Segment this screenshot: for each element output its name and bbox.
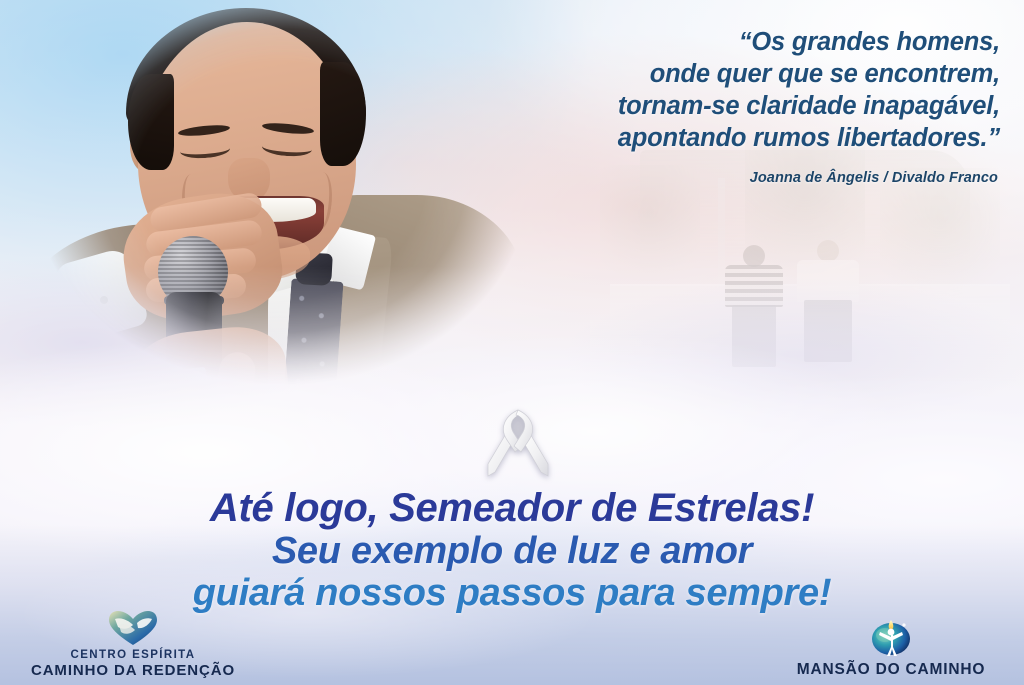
- quote-line-1: “Os grandes homens,: [380, 26, 1000, 58]
- headline-line-3: guiará nossos passos para sempre!: [0, 572, 1024, 614]
- quote-attribution: Joanna de Ângelis / Divaldo Franco: [378, 170, 998, 186]
- logo-ce-line-2: CAMINHO DA REDENÇÃO: [8, 662, 258, 679]
- quote-line-2: onde quer que se encontrem,: [380, 58, 1000, 90]
- headline-line-2: Seu exemplo de luz e amor: [0, 530, 1024, 572]
- logo-mansao-do-caminho: MANSÃO DO CAMINHO: [766, 614, 1016, 679]
- headline-message: Até logo, Semeador de Estrelas! Seu exem…: [0, 486, 1024, 614]
- hair-right-side: [320, 62, 366, 166]
- headline-line-1: Até logo, Semeador de Estrelas!: [0, 486, 1024, 530]
- memorial-poster: “Os grandes homens, onde quer que se enc…: [0, 0, 1024, 685]
- quote-line-3: tornam-se claridade inapagável,: [380, 90, 1000, 122]
- logo-ce-line-1: CENTRO ESPÍRITA: [8, 649, 258, 662]
- cuff-button: [100, 296, 108, 304]
- quote-text: “Os grandes homens, onde quer que se enc…: [380, 26, 1000, 154]
- necktie: [280, 278, 343, 441]
- quote-line-4: apontando rumos libertadores.”: [380, 122, 1000, 154]
- hair-left-side: [128, 74, 174, 170]
- globe-figure-icon: [867, 614, 915, 658]
- finger-ring: [183, 367, 206, 382]
- logo-centro-espirita-caminho-da-redencao: CENTRO ESPÍRITA CAMINHO DA REDENÇÃO: [8, 610, 258, 679]
- white-ribbon-icon: [485, 406, 551, 482]
- heart-hands-icon: [107, 610, 159, 646]
- logo-mdc-line-1: MANSÃO DO CAMINHO: [766, 661, 1016, 679]
